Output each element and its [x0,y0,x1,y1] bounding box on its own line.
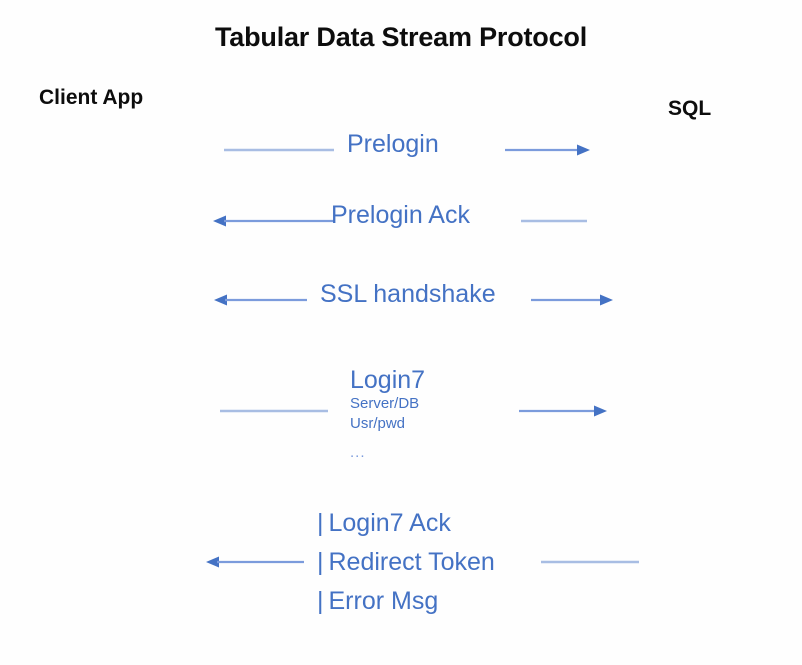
pipe-glyph: | [317,548,329,576]
connector-line-left-prelogin [224,143,334,157]
message-label-login7: Login7 Server/DB Usr/pwd ... [350,366,425,463]
message-line-text: Redirect Token [329,548,495,576]
connector-line-right-login7-ack [541,555,639,569]
message-line-text: Login7 Ack [329,509,451,537]
message-label-text: Prelogin Ack [331,201,470,229]
endpoint-label-server: SQL [668,97,711,121]
message-label-login7-ack: |Login7 Ack |Redirect Token |Error Msg [317,504,495,620]
message-line-redirect-token: |Redirect Token [317,543,495,582]
message-subline-usr-pwd: Usr/pwd [350,414,425,434]
connector-arrow-right-prelogin [505,143,590,157]
connector-line-right-prelogin-ack [521,214,587,228]
page-title: Tabular Data Stream Protocol [0,22,802,53]
message-subline-ellipsis: ... [350,443,425,463]
message-label-prelogin-ack: Prelogin Ack [331,201,470,229]
connector-line-left-login7 [220,404,328,418]
connector-arrow-right-login7 [519,404,607,418]
message-line-text: Error Msg [329,587,439,615]
connector-arrow-left-ssl-handshake [214,293,307,307]
message-label-text: Login7 [350,366,425,394]
connector-arrow-left-prelogin-ack [213,214,335,228]
connector-arrow-right-ssl-handshake [531,293,613,307]
pipe-glyph: | [317,509,329,537]
connector-arrow-left-login7-ack [206,555,304,569]
diagram-canvas: Tabular Data Stream Protocol Client App … [0,0,802,665]
message-label-text: Prelogin [347,130,439,158]
message-label-ssl-handshake: SSL handshake [320,280,496,308]
message-subline-server-db: Server/DB [350,394,425,414]
endpoint-label-client: Client App [39,86,143,110]
message-label-prelogin: Prelogin [347,130,439,158]
message-line-error-msg: |Error Msg [317,582,495,621]
message-line-login7-ack: |Login7 Ack [317,504,495,543]
pipe-glyph: | [317,587,329,615]
message-label-text: SSL handshake [320,280,496,308]
